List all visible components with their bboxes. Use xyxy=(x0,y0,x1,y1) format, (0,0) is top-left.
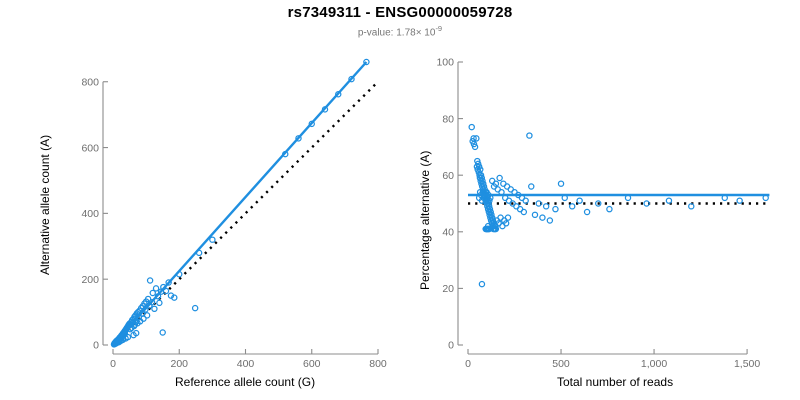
ase-figure: rs7349311 - ENSG00000059728 p-value: 1.7… xyxy=(0,0,800,400)
left-y-tick-label: 0 xyxy=(93,340,99,352)
left-x-tick-label: 800 xyxy=(369,358,387,370)
data-point xyxy=(737,198,742,203)
data-point xyxy=(584,209,589,214)
data-point xyxy=(527,133,532,138)
data-point xyxy=(148,278,153,283)
left-y-tick-label: 400 xyxy=(81,208,99,220)
right-y-tick-label: 100 xyxy=(436,57,454,69)
data-point xyxy=(157,300,162,305)
left-x-tick-label: 400 xyxy=(237,358,255,370)
right-panel-plot: 02040608010005001,0001,500 xyxy=(436,57,769,370)
left-x-tick-label: 600 xyxy=(303,358,321,370)
data-point xyxy=(152,306,157,311)
left-y-tick-label: 200 xyxy=(81,274,99,286)
data-point xyxy=(505,215,510,220)
data-point xyxy=(469,124,474,129)
left-x-tick-label: 200 xyxy=(170,358,188,370)
left-fit-line xyxy=(113,62,366,345)
left-reference-line xyxy=(113,82,378,345)
left-y-tick-label: 800 xyxy=(81,76,99,88)
data-point xyxy=(607,207,612,212)
data-point xyxy=(160,330,165,335)
data-point xyxy=(570,204,575,209)
data-point xyxy=(153,286,158,291)
data-point xyxy=(666,198,671,203)
data-point xyxy=(497,175,502,180)
right-y-tick-label: 20 xyxy=(442,283,454,295)
right-y-tick-label: 40 xyxy=(442,227,454,239)
data-point xyxy=(544,204,549,209)
right-x-tick-label: 500 xyxy=(552,358,570,370)
data-point xyxy=(521,209,526,214)
left-panel-plot: 02004006008000200400600800 xyxy=(81,59,386,370)
right-x-tick-label: 0 xyxy=(465,358,471,370)
plot-canvas: 02004006008000200400600800 0204060801000… xyxy=(0,0,800,400)
data-point xyxy=(479,282,484,287)
data-point xyxy=(577,198,582,203)
left-y-tick-label: 600 xyxy=(81,142,99,154)
data-point xyxy=(529,184,534,189)
data-point xyxy=(553,207,558,212)
right-y-tick-label: 0 xyxy=(448,340,454,352)
data-point xyxy=(145,313,150,318)
right-data-points xyxy=(469,124,768,286)
data-point xyxy=(540,215,545,220)
right-y-tick-label: 80 xyxy=(442,113,454,125)
data-point xyxy=(210,237,215,242)
data-point xyxy=(532,212,537,217)
data-point xyxy=(193,306,198,311)
left-x-tick-label: 0 xyxy=(110,358,116,370)
right-x-tick-label: 1,000 xyxy=(641,358,667,370)
right-y-tick-label: 60 xyxy=(442,170,454,182)
data-point xyxy=(547,218,552,223)
right-x-tick-label: 1,500 xyxy=(734,358,760,370)
data-point xyxy=(558,181,563,186)
